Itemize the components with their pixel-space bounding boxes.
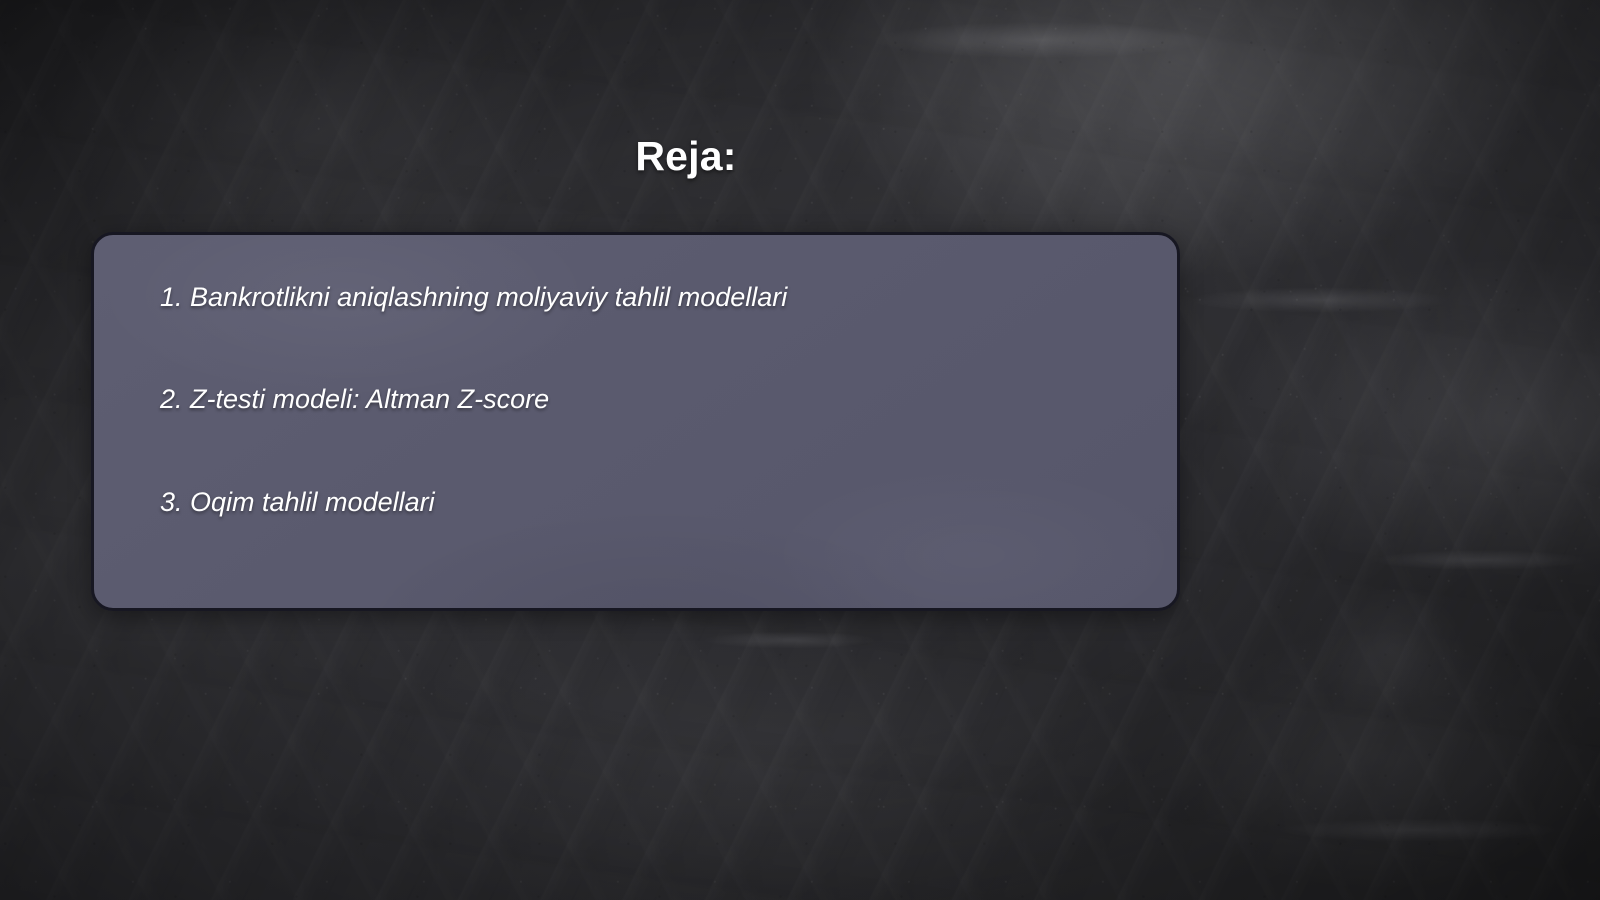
agenda-card: 1. Bankrotlikni aniqlashning moliyaviy t…	[91, 232, 1180, 611]
list-item: 2. Z-testi modeli: Altman Z-score	[160, 383, 1147, 415]
list-item: 3. Oqim tahlil modellari	[160, 486, 1147, 518]
slide-title: Reja:	[0, 133, 1372, 180]
agenda-list: 1. Bankrotlikni aniqlashning moliyaviy t…	[160, 281, 1147, 518]
presentation-slide: Reja: 1. Bankrotlikni aniqlashning moliy…	[0, 0, 1600, 900]
list-item: 1. Bankrotlikni aniqlashning moliyaviy t…	[160, 281, 1147, 313]
